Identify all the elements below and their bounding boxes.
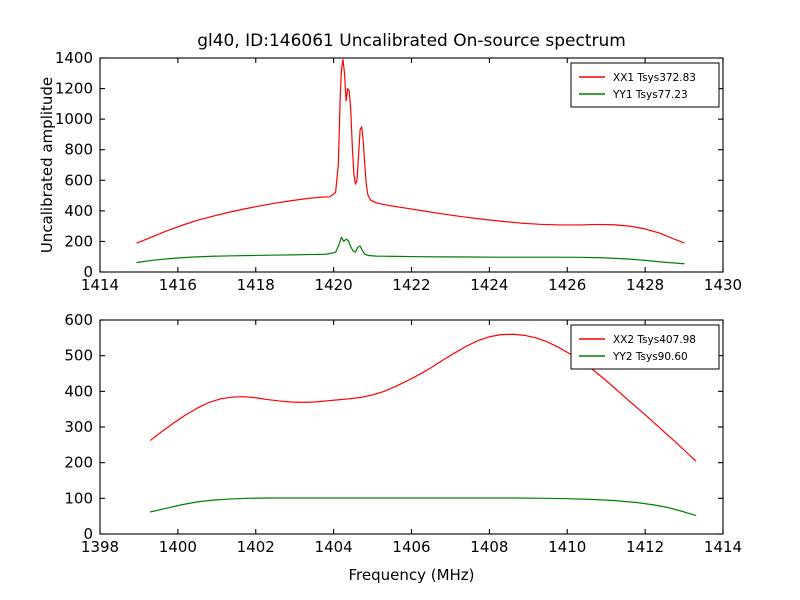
- page-title: gl40, ID:146061 Uncalibrated On-source s…: [197, 31, 626, 51]
- y-tick-label: 1400: [55, 49, 93, 67]
- y-tick-label: 1200: [55, 80, 93, 98]
- x-tick-label: 1410: [548, 538, 586, 556]
- x-tick-label: 1406: [392, 538, 430, 556]
- x-tick-label: 1408: [470, 538, 508, 556]
- x-tick-label: 1412: [626, 538, 664, 556]
- y-tick-label: 300: [64, 418, 93, 436]
- y-tick-label: 600: [64, 171, 93, 189]
- legend-label: XX1 Tsys372.83: [613, 72, 696, 84]
- x-tick-label: 1404: [315, 538, 353, 556]
- y-tick-label: 200: [64, 454, 93, 472]
- y-tick-label: 100: [64, 489, 93, 507]
- y-tick-label: 800: [64, 141, 93, 159]
- bottom-panel-legend: XX2 Tsys407.98YY2 Tsys90.60: [571, 325, 719, 369]
- trace-yy1: [137, 237, 684, 264]
- trace-yy2: [151, 498, 696, 515]
- x-tick-label: 1428: [626, 276, 664, 294]
- x-tick-label: 1400: [159, 538, 197, 556]
- x-tick-label: 1418: [237, 276, 275, 294]
- legend-label: YY2 Tsys90.60: [612, 351, 688, 363]
- y-tick-label: 1000: [55, 110, 93, 128]
- top-panel: 1414141614181420142214241426142814300200…: [38, 31, 742, 294]
- x-tick-label: 1420: [315, 276, 353, 294]
- y-tick-label: 0: [83, 525, 93, 543]
- x-tick-label: 1414: [704, 538, 742, 556]
- x-tick-label: 1416: [159, 276, 197, 294]
- legend-label: XX2 Tsys407.98: [613, 334, 696, 346]
- legend-label: YY1 Tsys77.23: [612, 89, 688, 101]
- bottom-panel: 1398140014021404140614081410141214140100…: [64, 311, 742, 584]
- x-tick-label: 1424: [470, 276, 508, 294]
- spectrum-figure: 1414141614181420142214241426142814300200…: [0, 0, 800, 600]
- y-tick-label: 400: [64, 382, 93, 400]
- y-tick-label: 500: [64, 347, 93, 365]
- y-axis-label: Uncalibrated amplitude: [38, 77, 56, 253]
- x-tick-label: 1422: [392, 276, 430, 294]
- y-tick-label: 0: [83, 263, 93, 281]
- x-tick-label: 1402: [237, 538, 275, 556]
- x-tick-label: 1426: [548, 276, 586, 294]
- top-panel-legend: XX1 Tsys372.83YY1 Tsys77.23: [571, 63, 719, 107]
- plot-canvas: 1414141614181420142214241426142814300200…: [0, 0, 800, 600]
- y-tick-label: 400: [64, 202, 93, 220]
- x-axis-label: Frequency (MHz): [348, 566, 474, 584]
- y-tick-label: 600: [64, 311, 93, 329]
- x-tick-label: 1430: [704, 276, 742, 294]
- y-tick-label: 200: [64, 232, 93, 250]
